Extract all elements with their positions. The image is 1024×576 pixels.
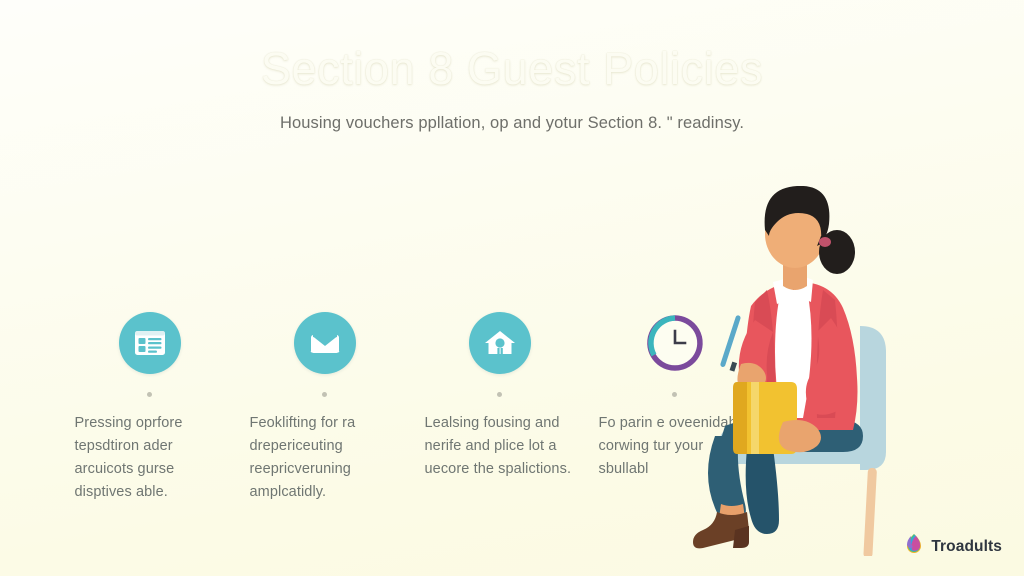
feature-divider-dot <box>322 392 327 397</box>
slide-canvas: Section 8 Guest Policies Housing voucher… <box>0 0 1024 576</box>
page-title: Section 8 Guest Policies <box>0 44 1024 94</box>
document-list-icon <box>119 312 181 374</box>
envelope-icon <box>294 312 356 374</box>
feature-item-1-text: Pressing oprfore tepsdtiron ader arcuico… <box>75 412 225 504</box>
home-icon <box>469 312 531 374</box>
brand-name: Troadults <box>931 538 1002 556</box>
slide-header: Section 8 Guest Policies Housing voucher… <box>0 44 1024 133</box>
brand-logo: Troadults <box>904 533 1002 560</box>
feature-divider-dot <box>497 392 502 397</box>
page-subtitle: Housing vouchers ppllation, op and yotur… <box>0 114 1024 133</box>
seated-woman-with-notebook-illustration <box>655 186 955 556</box>
troadults-flame-logo-icon <box>904 533 924 560</box>
feature-item-2-text: Feoklifting for ra drepericeuting reepri… <box>250 412 400 504</box>
feature-divider-dot <box>147 392 152 397</box>
feature-item-2[interactable]: Feoklifting for ra drepericeuting reepri… <box>237 312 412 504</box>
feature-item-3-text: Lealsing fousing and nerife and plice lo… <box>425 412 575 481</box>
feature-item-1[interactable]: Pressing oprfore tepsdtiron ader arcuico… <box>62 312 237 504</box>
feature-item-3[interactable]: Lealsing fousing and nerife and plice lo… <box>412 312 587 504</box>
